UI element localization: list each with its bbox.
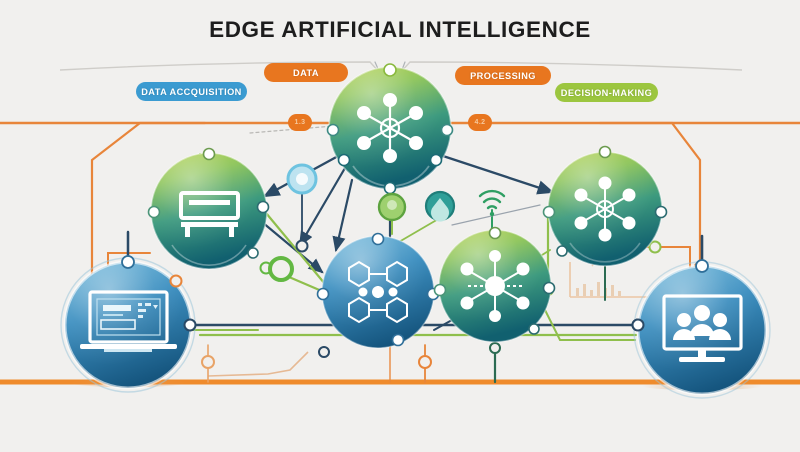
badge-left: 1.3 [288, 114, 312, 131]
diagram-artwork [0, 0, 800, 452]
label-data-acquisition[interactable]: DATA ACCQUISITION [136, 82, 247, 101]
network-hub-node[interactable] [328, 64, 453, 194]
network-node-right[interactable] [544, 147, 667, 267]
diagram-canvas: EDGE ARTIFICIAL INTELLIGENCE DATA ACCQUI… [0, 0, 800, 452]
server-node[interactable] [149, 149, 269, 270]
label-decision-making[interactable]: DECISION-MAKING [555, 83, 658, 102]
users-display-node[interactable] [633, 260, 771, 398]
page-title: EDGE ARTIFICIAL INTELLIGENCE [0, 17, 800, 43]
wifi-icon [480, 191, 504, 216]
label-processing[interactable]: PROCESSING [455, 66, 551, 85]
badge-right: 4.2 [468, 114, 492, 131]
label-data[interactable]: DATA [264, 63, 348, 82]
data-terminal-node[interactable] [61, 256, 196, 392]
